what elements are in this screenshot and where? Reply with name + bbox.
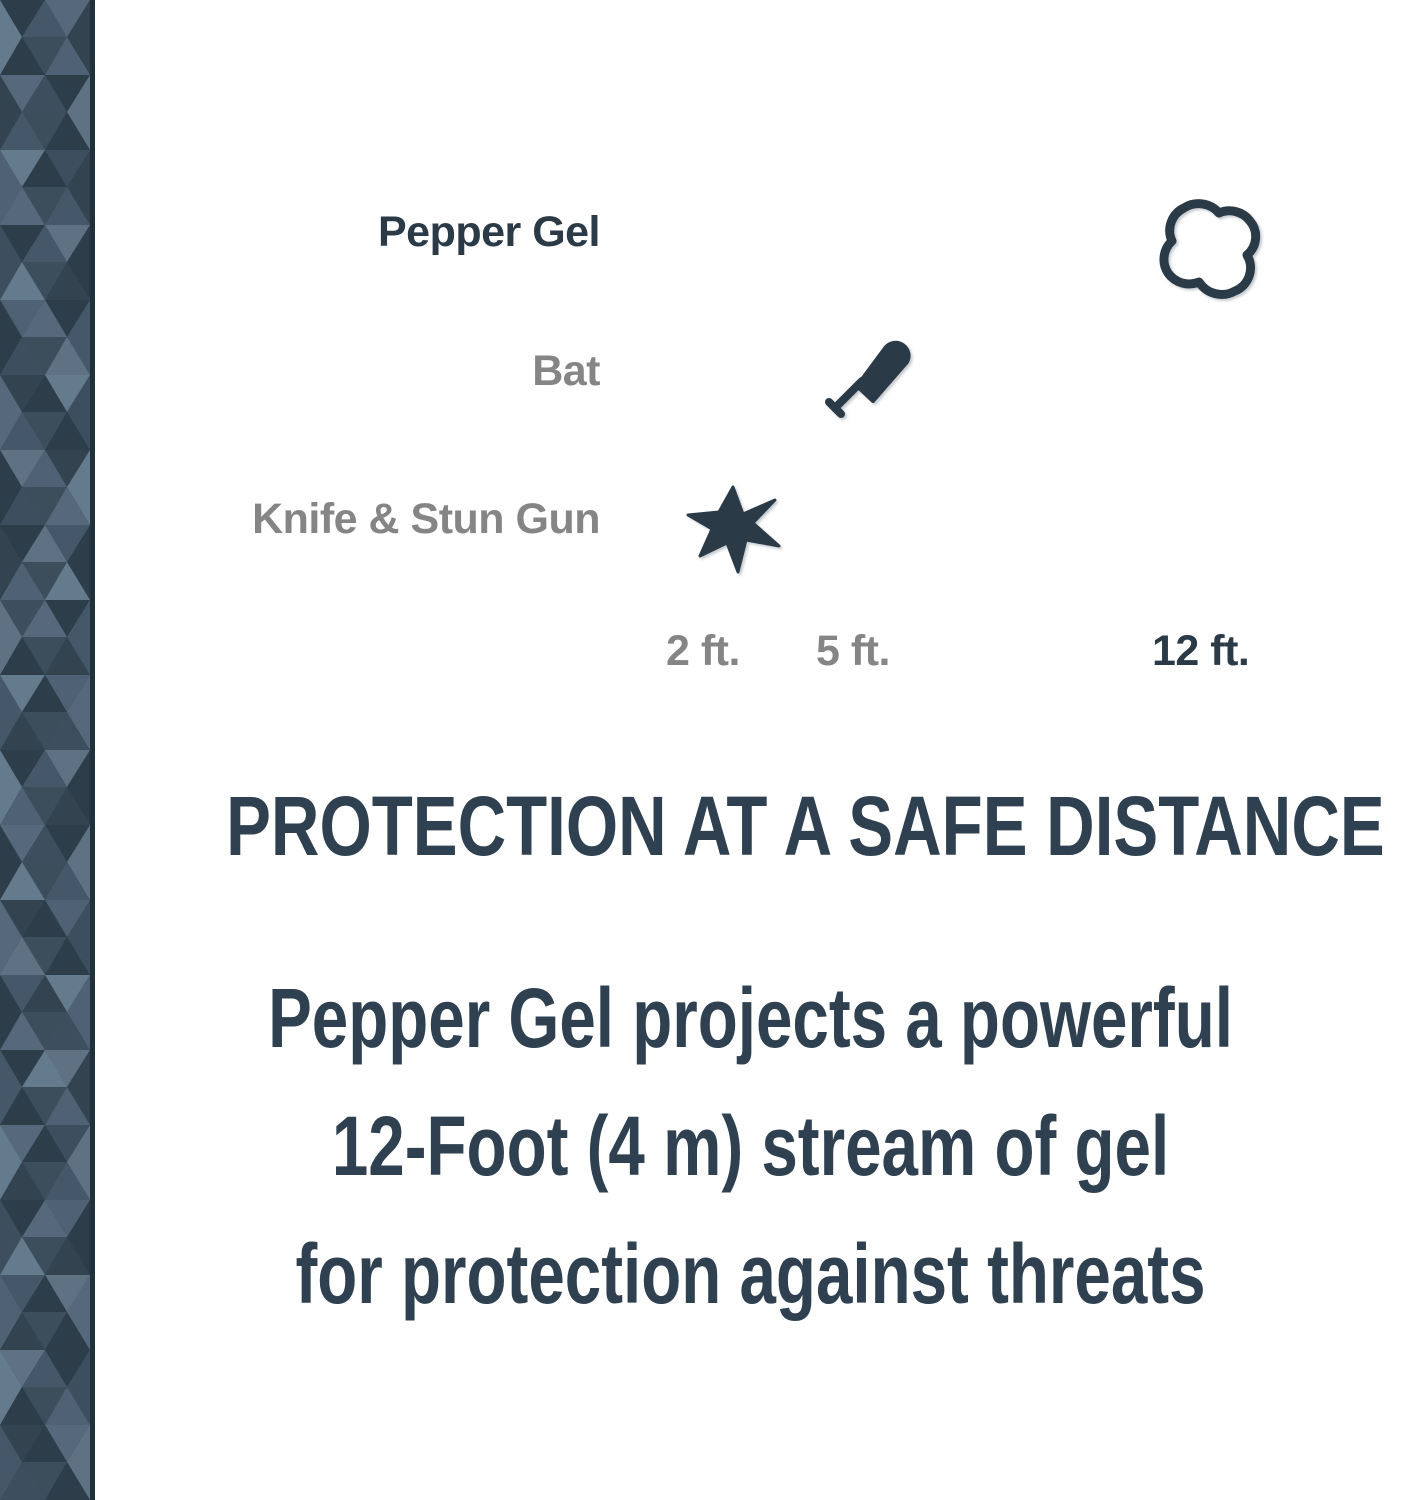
x-tick-label-12ft: 12 ft. [1152, 627, 1249, 676]
headline: PROTECTION AT A SAFE DISTANCE [226, 780, 1275, 872]
x-tick-label-5ft: 5 ft. [816, 627, 890, 676]
marketing-copy-block: PROTECTION AT A SAFE DISTANCE Pepper Gel… [95, 780, 1406, 1338]
distance-comparison-chart: Pepper Gel Bat Knife & Stun Gun 2 ft. 5 … [0, 0, 1406, 700]
chart-svg [0, 0, 1406, 700]
chart-label-pepper-gel: Pepper Gel [378, 208, 600, 257]
body-line-1: Pepper Gel projects a powerful [239, 954, 1262, 1082]
body-copy: Pepper Gel projects a powerful 12-Foot (… [95, 954, 1406, 1338]
spray-cloud-icon [1164, 204, 1256, 295]
body-line-2: 12-Foot (4 m) stream of gel [239, 1082, 1262, 1210]
x-tick-label-2ft: 2 ft. [666, 627, 740, 676]
impact-burst-icon [688, 487, 779, 572]
body-line-3: for protection against threats [239, 1210, 1262, 1338]
chart-label-bat: Bat [532, 347, 600, 396]
chart-label-knife-stun-gun: Knife & Stun Gun [252, 495, 600, 544]
